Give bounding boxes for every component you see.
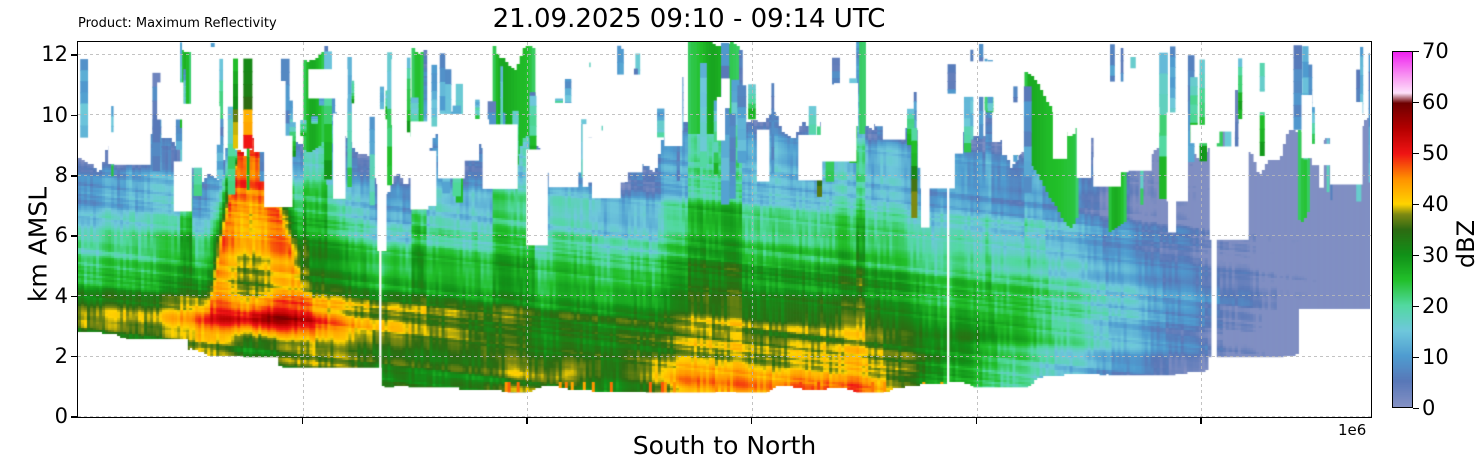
y-tick-mark (71, 416, 77, 417)
reflectivity-heatmap (78, 42, 1370, 416)
y-tick-label: 0 (55, 404, 68, 428)
x-tick-mark (526, 418, 527, 424)
colorbar-tick-label: 60 (1422, 90, 1449, 114)
y-tick-label: 12 (41, 42, 68, 66)
colorbar-tick-label: 50 (1422, 141, 1449, 165)
radar-cross-section-figure: 21.09.2025 09:10 - 09:14 UTC Product: Ma… (0, 0, 1482, 470)
y-tick-mark (71, 356, 77, 357)
colorbar-tick-label: 20 (1422, 294, 1449, 318)
y-tick-mark (71, 54, 77, 55)
x-tick-mark (302, 418, 303, 424)
x-tick-mark (751, 418, 752, 424)
colorbar-tick-label: 10 (1422, 345, 1449, 369)
x-tick-mark (1200, 418, 1201, 424)
colorbar-tick-label: 40 (1422, 192, 1449, 216)
y-tick-mark (71, 115, 77, 116)
colorbar-tick-mark (1413, 204, 1419, 205)
x-axis-label: South to North (77, 431, 1372, 460)
x-tick-mark (976, 418, 977, 424)
plot-area (77, 41, 1372, 418)
product-annotation: Product: Maximum Reflectivity (78, 16, 277, 31)
gridline-horizontal (78, 416, 1371, 417)
colorbar-tick-mark (1413, 102, 1419, 103)
x-axis-offset-label: 1e6 (1338, 421, 1366, 439)
y-axis-label: km AMSL (24, 115, 53, 375)
colorbar-tick-mark (1413, 357, 1419, 358)
colorbar (1392, 51, 1413, 408)
colorbar-tick-mark (1413, 153, 1419, 154)
colorbar-tick-mark (1413, 306, 1419, 307)
colorbar-tick-label: 30 (1422, 243, 1449, 267)
colorbar-tick-mark (1413, 255, 1419, 256)
colorbar-label: dBZ (1452, 164, 1480, 324)
y-tick-label: 4 (55, 284, 68, 308)
y-tick-mark (71, 235, 77, 236)
y-tick-label: 2 (55, 344, 68, 368)
colorbar-tick-mark (1413, 408, 1419, 409)
y-tick-label: 8 (55, 163, 68, 187)
colorbar-gradient (1392, 51, 1413, 408)
colorbar-tick-mark (1413, 51, 1419, 52)
colorbar-tick-label: 0 (1422, 396, 1435, 420)
y-tick-mark (71, 175, 77, 176)
y-tick-label: 6 (55, 223, 68, 247)
y-tick-label: 10 (41, 103, 68, 127)
y-tick-mark (71, 296, 77, 297)
colorbar-tick-label: 70 (1422, 39, 1449, 63)
